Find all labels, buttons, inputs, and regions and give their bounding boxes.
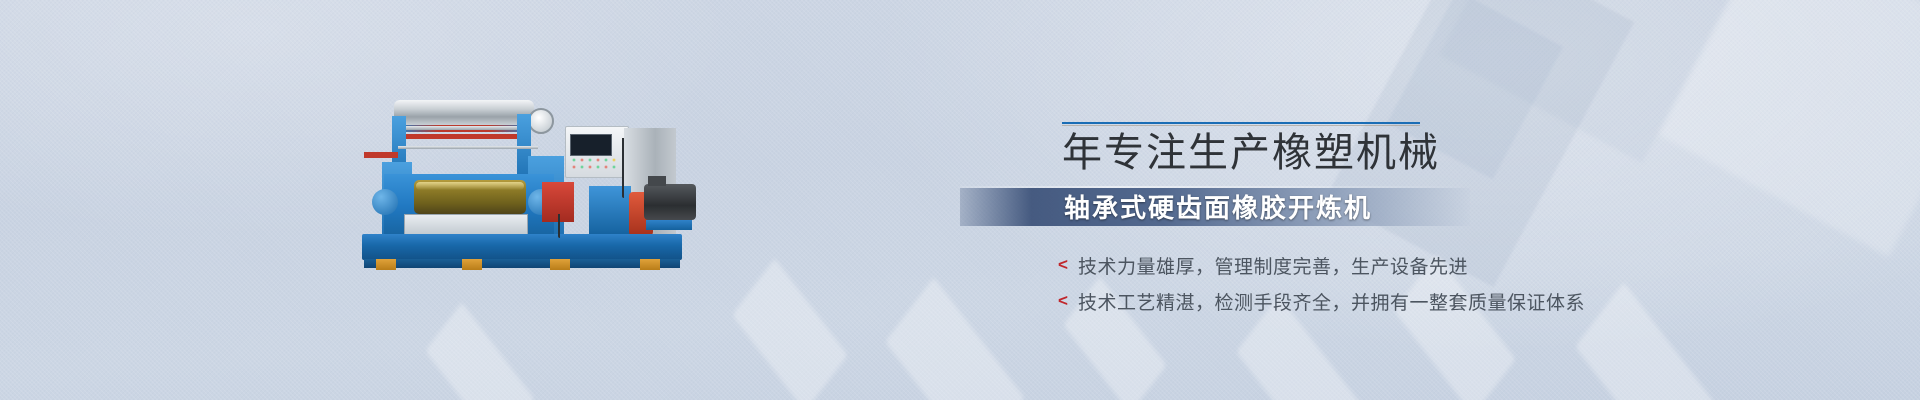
watermark-diamond-6 [1575, 282, 1715, 400]
chevron-left-icon: < [1058, 291, 1078, 311]
watermark-diamond-2 [885, 277, 1025, 400]
feature-list: < 技术力量雄厚，管理制度完善，生产设备先进 < 技术工艺精湛，检测手段齐全，并… [1058, 247, 1585, 319]
machine-panel-buttons [570, 157, 618, 171]
feature-text: 技术工艺精湛，检测手段齐全，并拥有一整套质量保证体系 [1078, 288, 1585, 315]
machine-panel-screen [570, 134, 612, 156]
machine-top-roller [394, 100, 534, 126]
watermark-shape-3 [1439, 0, 1731, 163]
machine-base [362, 234, 682, 260]
machine-roller-highlight [416, 182, 524, 190]
machine-foot-4 [640, 259, 660, 270]
machine-motor [644, 184, 696, 220]
machine-red-bar [404, 134, 526, 139]
page-subtitle: 轴承式硬齿面橡胶开炼机 [1064, 193, 1372, 223]
watermark-diamond-1 [732, 258, 847, 400]
machine-handwheel [528, 108, 554, 134]
machine-motor-base [646, 220, 692, 230]
list-item: < 技术工艺精湛，检测手段齐全，并拥有一整套质量保证体系 [1058, 283, 1585, 319]
page-title: 年专注生产橡塑机械 [1062, 128, 1440, 178]
feature-text: 技术力量雄厚，管理制度完善，生产设备先进 [1078, 252, 1468, 279]
machine-tie-rod-red [364, 152, 398, 158]
product-image [352, 96, 697, 266]
machine-foot-3 [550, 259, 570, 270]
machine-cable [622, 138, 624, 198]
watermark-diamond-7 [425, 302, 534, 400]
machine-bearing-cap-left [372, 189, 398, 215]
machine-gearbox [589, 186, 631, 236]
machine-cable-2 [558, 214, 560, 238]
machine-tie-rod [398, 146, 538, 149]
promo-banner: 年专注生产橡塑机械 轴承式硬齿面橡胶开炼机 < 技术力量雄厚，管理制度完善，生产… [0, 0, 1920, 400]
machine-motor-terminal-box [648, 176, 666, 186]
machine-base-shadow [364, 259, 680, 268]
watermark-shape-4 [1659, 0, 1920, 257]
machine-foot-2 [462, 259, 482, 270]
machine-steel-bar [400, 126, 530, 130]
title-divider-line-secondary [1062, 125, 1420, 126]
machine-foot-1 [376, 259, 396, 270]
title-divider-line [1062, 122, 1420, 124]
chevron-left-icon: < [1058, 255, 1078, 275]
list-item: < 技术力量雄厚，管理制度完善，生产设备先进 [1058, 247, 1585, 283]
